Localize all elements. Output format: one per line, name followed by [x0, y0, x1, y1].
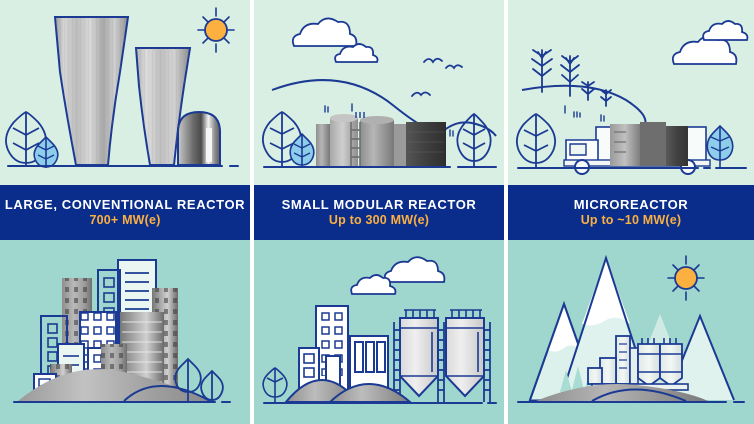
bird-icon [412, 59, 462, 96]
large-reactor-plant-scene [0, 0, 250, 185]
cooling-tower-large [55, 17, 128, 165]
containment-dome [178, 112, 220, 165]
reactor-module-small [610, 122, 688, 166]
microreactor-transport-scene [508, 0, 754, 185]
label-title-large-conventional-reactor: LARGE, CONVENTIONAL REACTOR [5, 198, 245, 212]
cloud-small [703, 21, 747, 40]
large-reactor-plant-illustration [0, 0, 250, 185]
remote-mountain-site-scene [508, 240, 754, 424]
label-capacity-microreactor: Up to ~10 MW(e) [581, 214, 682, 227]
grass-tick [565, 106, 604, 121]
label-title-microreactor: MICROREACTOR [574, 198, 689, 212]
tree-outline [263, 368, 287, 403]
column-large-conventional-reactor: LARGE, CONVENTIONAL REACTOR 700+ MW(e) [0, 0, 250, 424]
sun-icon [668, 256, 704, 300]
tree-filled-small [707, 126, 733, 167]
small-town-scene [254, 240, 504, 424]
tree-filled-small [34, 137, 58, 168]
tree-outline-large [517, 114, 555, 167]
storage-silo [394, 310, 490, 402]
pine-tree [532, 50, 611, 106]
cloud-large [293, 18, 357, 46]
label-band-large-conventional-reactor: LARGE, CONVENTIONAL REACTOR 700+ MW(e) [0, 185, 250, 240]
cloud-large [385, 257, 445, 282]
reactor-comparison-infographic: LARGE, CONVENTIONAL REACTOR 700+ MW(e) [0, 0, 754, 424]
tree-filled-small [290, 134, 314, 167]
reactor-module-cylinder [316, 114, 446, 166]
smr-plant-illustration [254, 0, 504, 185]
label-capacity-large-conventional-reactor: 700+ MW(e) [89, 214, 160, 227]
label-band-microreactor: MICROREACTOR Up to ~10 MW(e) [508, 185, 754, 240]
microreactor-transport-illustration [508, 0, 754, 185]
small-town-illustration [254, 240, 504, 424]
remote-mountain-site-illustration [508, 240, 754, 424]
label-title-small-modular-reactor: SMALL MODULAR REACTOR [282, 198, 477, 212]
smr-plant-scene [254, 0, 504, 185]
large-city-scene [0, 240, 250, 424]
column-microreactor: MICROREACTOR Up to ~10 MW(e) [508, 0, 754, 424]
sun-icon [198, 8, 234, 52]
large-city-illustration [0, 240, 250, 424]
column-small-modular-reactor: SMALL MODULAR REACTOR Up to 300 MW(e) [254, 0, 504, 424]
label-capacity-small-modular-reactor: Up to 300 MW(e) [329, 214, 429, 227]
label-band-small-modular-reactor: SMALL MODULAR REACTOR Up to 300 MW(e) [254, 185, 504, 240]
hill-outline [522, 86, 646, 130]
